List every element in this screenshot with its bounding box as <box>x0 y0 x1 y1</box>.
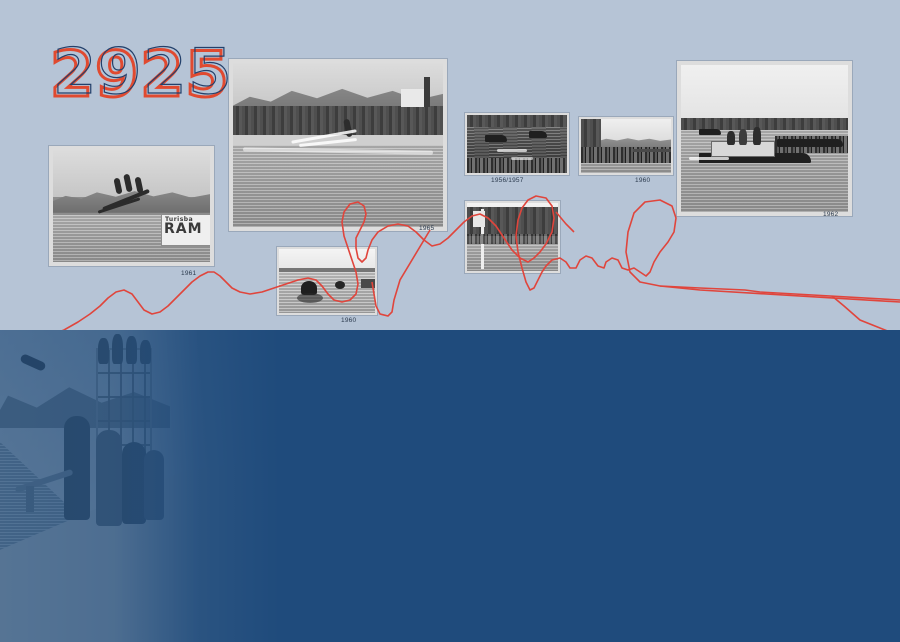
photo-caption: 1960 <box>341 317 356 324</box>
photo-lake-shore-trees[interactable] <box>464 200 561 274</box>
photo-image <box>233 63 443 227</box>
photo-caption: 1962 <box>823 211 838 218</box>
photo-image <box>681 65 848 212</box>
photo-water-ski-lake-church[interactable]: 1965 <box>228 58 448 232</box>
photo-swimmers-in-lake[interactable]: 1960 <box>276 246 378 316</box>
background-photo-diving-platform <box>0 330 300 642</box>
year-headline-outline: 2925 <box>53 41 234 103</box>
poster-canvas: 2925 2925 Turisba RAM 1961 <box>0 0 900 642</box>
photo-swim-competition[interactable]: 1956/1957 <box>464 112 570 176</box>
photo-image <box>581 119 671 173</box>
photo-image <box>467 115 567 173</box>
photo-image <box>279 249 375 313</box>
year-headline: 2925 2925 <box>50 44 231 106</box>
photo-motorboat-race[interactable]: 1962 <box>676 60 853 217</box>
lower-panel: CNB club natació banyoles <box>0 330 900 642</box>
photo-caption: 1961 <box>181 270 196 277</box>
photo-water-ski-pyramid[interactable]: Turisba RAM 1961 <box>48 145 215 267</box>
photo-caption: 1956/1957 <box>491 177 524 184</box>
photo-image <box>467 203 558 271</box>
photo-caption: 1965 <box>419 225 434 232</box>
photo-caption: 1960 <box>635 177 650 184</box>
photo-lake-beach-crowd[interactable]: 1960 <box>578 116 674 176</box>
photo-image: Turisba RAM <box>53 150 210 262</box>
upper-panel: 2925 2925 Turisba RAM 1961 <box>0 0 900 330</box>
